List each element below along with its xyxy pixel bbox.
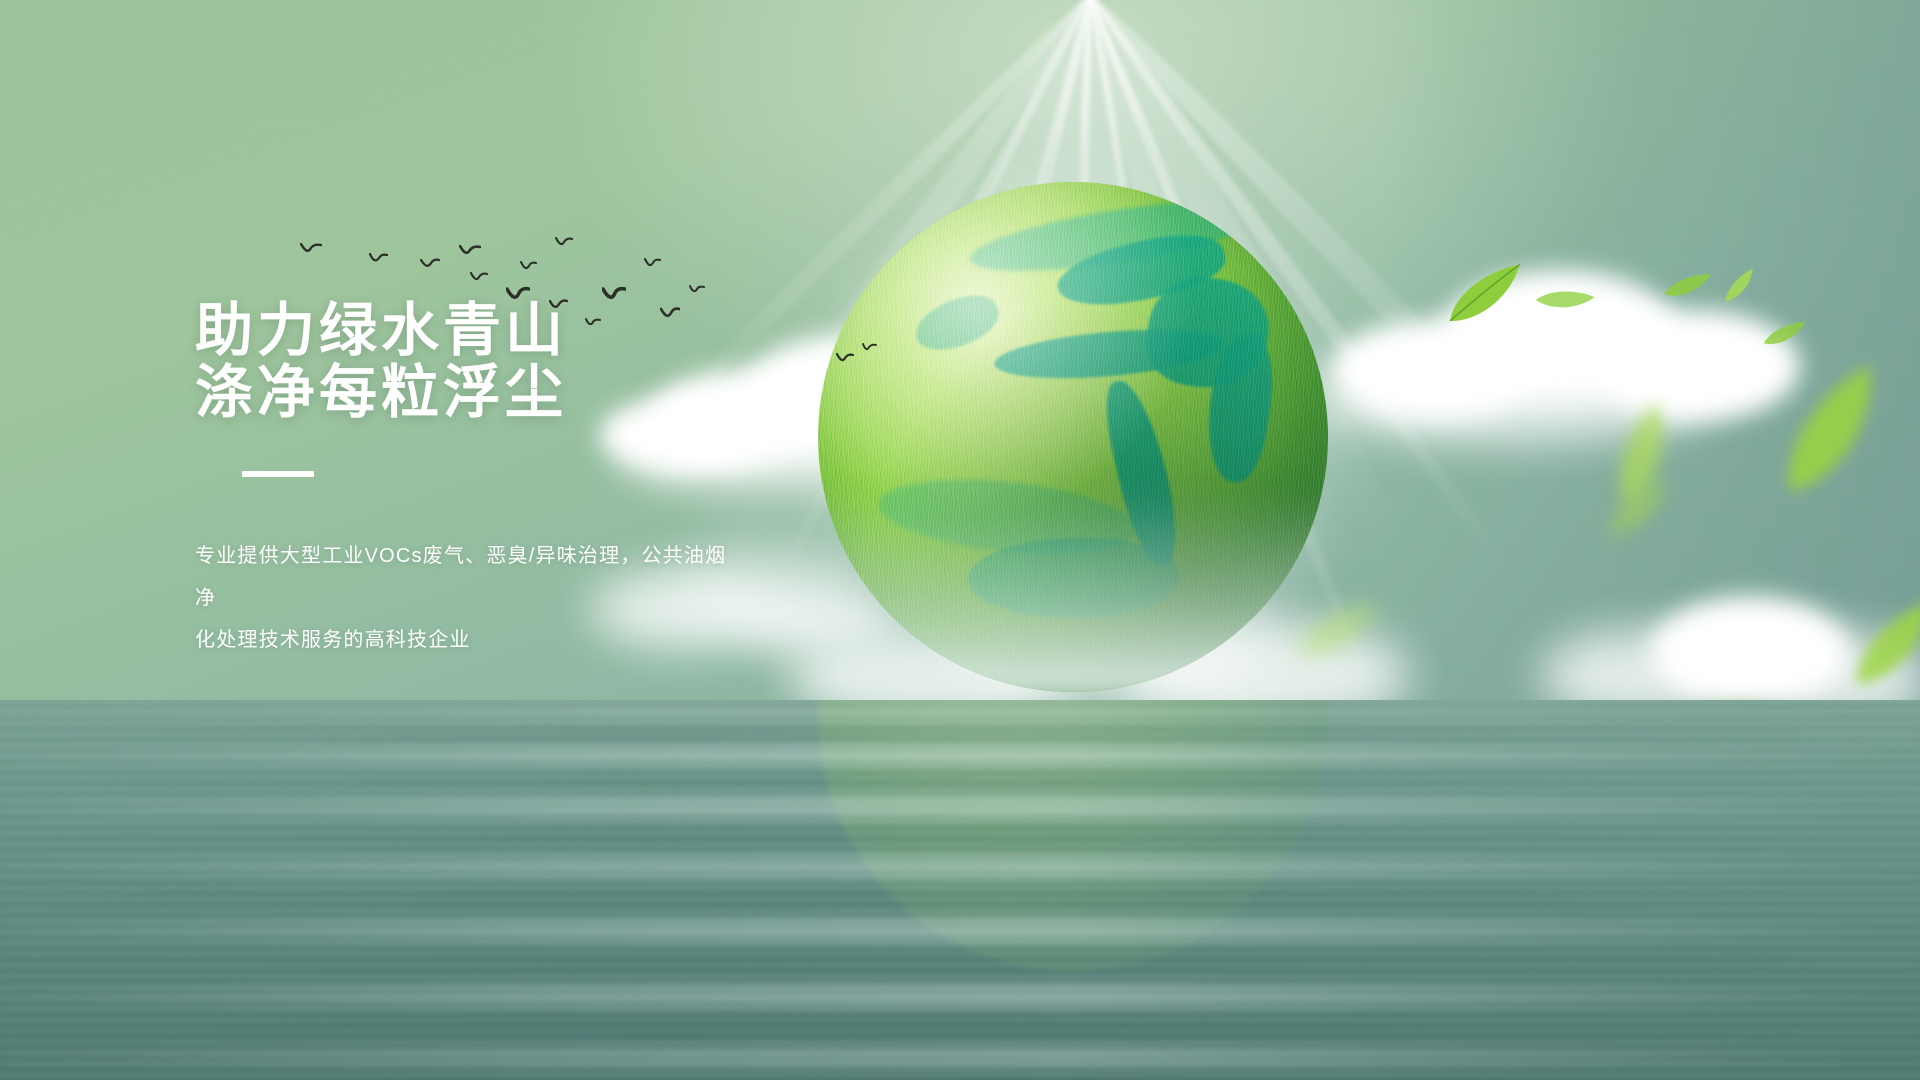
bird-icon — [644, 258, 661, 269]
bird-icon — [300, 243, 322, 256]
bird-icon — [689, 285, 705, 295]
water-surface — [0, 700, 1920, 1080]
headline-line-2: 涤净每粒浮尘 — [195, 362, 955, 424]
title-divider — [242, 471, 314, 477]
water-ripple-lines — [0, 700, 1920, 1080]
bird-icon — [555, 237, 573, 248]
bird-icon — [420, 258, 440, 270]
bird-icon — [520, 261, 537, 272]
bird-icon — [369, 253, 388, 265]
subtitle-line-2: 化处理技术服务的高科技企业 — [195, 619, 735, 661]
subtitle-line-1: 专业提供大型工业VOCs废气、恶臭/异味治理，公共油烟净 — [195, 535, 735, 619]
hero-banner: 助力绿水青山 涤净每粒浮尘 专业提供大型工业VOCs废气、恶臭/异味治理，公共油… — [0, 0, 1920, 1080]
bird-icon — [470, 272, 488, 283]
hero-copy: 助力绿水青山 涤净每粒浮尘 专业提供大型工业VOCs废气、恶臭/异味治理，公共油… — [195, 300, 955, 661]
headline-line-1: 助力绿水青山 — [195, 300, 955, 362]
hero-subtitle: 专业提供大型工业VOCs废气、恶臭/异味治理，公共油烟净 化处理技术服务的高科技… — [195, 535, 735, 661]
bird-icon — [459, 245, 481, 258]
page-title: 助力绿水青山 涤净每粒浮尘 — [195, 300, 955, 424]
